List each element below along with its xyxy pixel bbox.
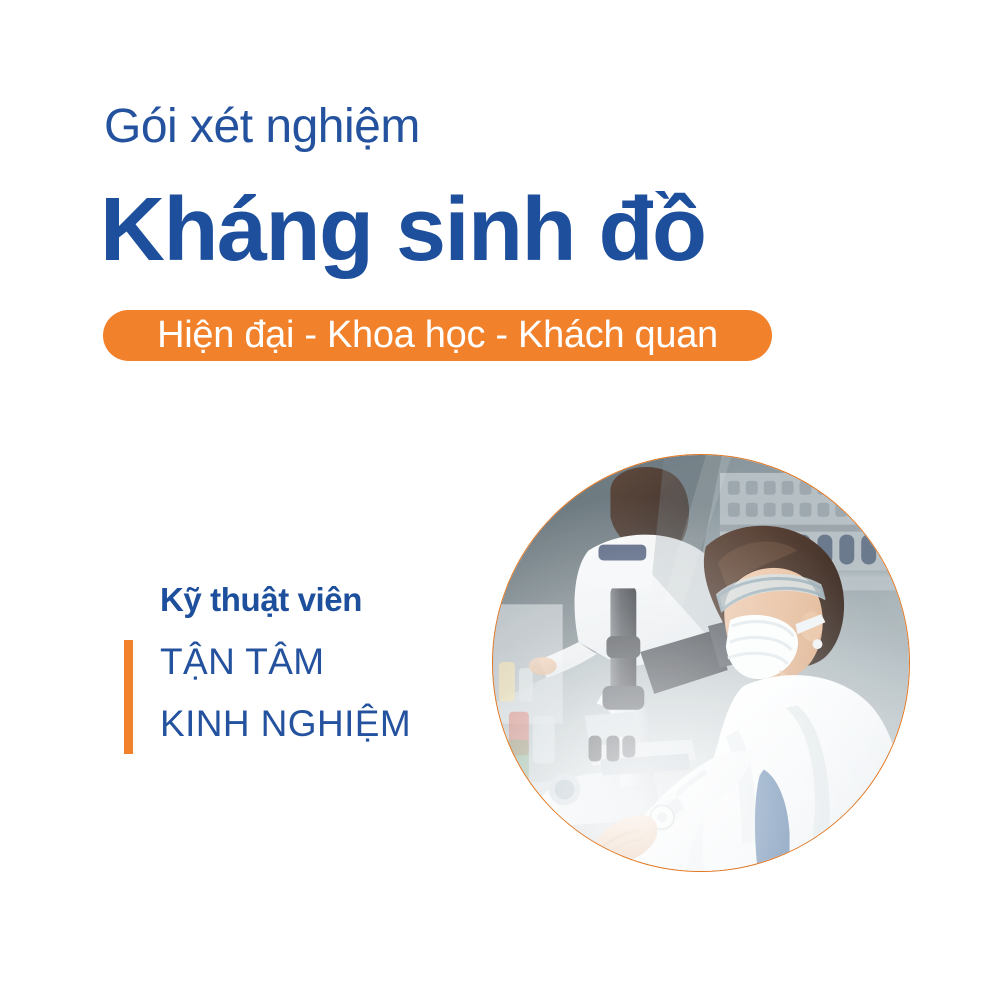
accent-rule bbox=[124, 640, 133, 754]
eyebrow-text: Gói xét nghiệm bbox=[104, 98, 420, 156]
microscope-lab-photo-icon bbox=[493, 455, 909, 871]
credentials-line-1: TẬN TÂM bbox=[160, 640, 325, 684]
credentials-title: Kỹ thuật viên bbox=[160, 580, 362, 620]
tagline-badge-label: Hiện đại - Khoa học - Khách quan bbox=[157, 315, 718, 355]
credentials-block: Kỹ thuật viên TẬN TÂM KINH NGHIỆM bbox=[124, 580, 454, 760]
tagline-badge: Hiện đại - Khoa học - Khách quan bbox=[103, 310, 772, 361]
lab-photo-circle bbox=[492, 454, 910, 872]
page-title: Kháng sinh đồ bbox=[100, 178, 705, 282]
credentials-line-2: KINH NGHIỆM bbox=[160, 702, 411, 746]
poster-canvas: Gói xét nghiệm Kháng sinh đồ Hiện đại - … bbox=[0, 0, 1000, 1000]
